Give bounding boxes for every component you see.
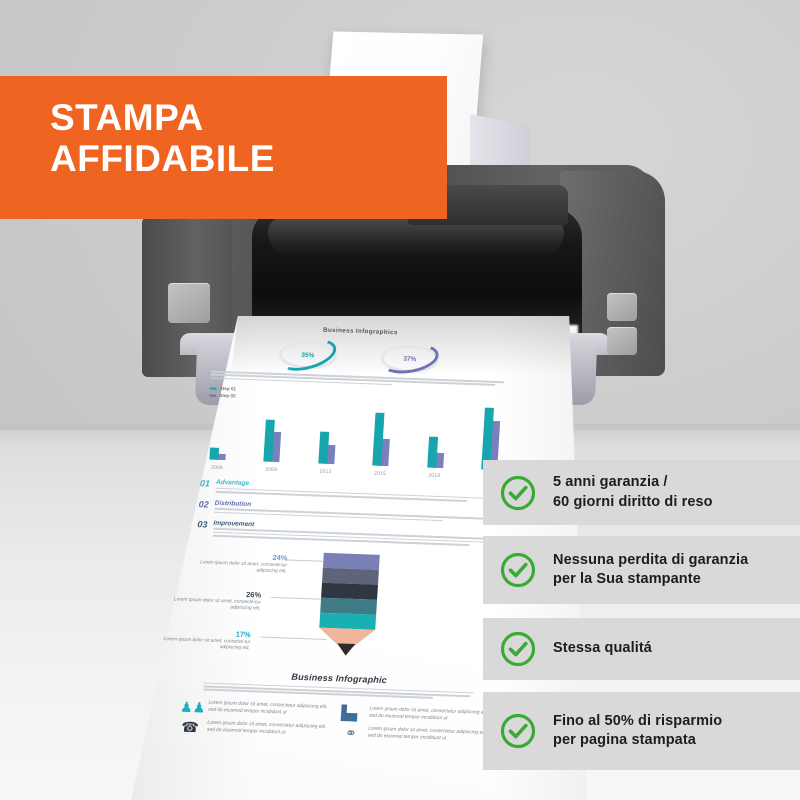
headline-line-1: STAMPA [50,97,275,138]
check-circle-icon [499,474,537,512]
list-item: 03 Improvement [197,519,500,549]
pencil-stat-2: 26% Lorem ipsum dolor sit amet, consecte… [164,587,261,613]
printer-button-right-top[interactable] [607,293,637,321]
list-item: ⚭ Lorem ipsum dolor sit amet, consectetu… [339,725,491,745]
donut-chart-1: 35% [278,340,338,370]
icon-cell-text: Lorem ipsum dolor sit amet, consectetur … [208,701,332,719]
pencil-stat-text: Lorem ipsum dolor sit amet, consecte-tur… [164,597,261,613]
feature-row-1: 5 anni garanzia / 60 giorni diritto di r… [483,460,800,525]
feature-line-1: 5 anni garanzia / [553,473,713,492]
feature-text: Nessuna perdita di garanzia per la Sua s… [553,551,748,589]
chart-bars [197,392,513,471]
x-axis-tick-label: 2009 [251,466,291,473]
feature-line-1: Nessuna perdita di garanzia [553,551,748,570]
lightbulb-idea-icon: ⚭ [339,725,362,740]
bar-group [360,398,404,467]
x-axis-tick-label: 2018 [414,472,454,479]
pencil-stat-1: 24% Lorem ipsum dolor sit amet, consecte… [190,550,287,576]
bar-chart-growth-icon: ▙▖ [341,706,364,721]
headline-banner: STAMPA AFFIDABILE [0,76,447,219]
printer-button-right-bottom[interactable] [607,327,637,355]
clock-phone-icon: ☎ [179,720,202,735]
people-group-icon: ♟♟ [180,700,203,715]
steps-list: 01 Advantage 02 Distribution 03 Impro [197,479,502,549]
headline-line-2: AFFIDABILE [50,138,275,179]
pencil-stat-3: 17% Lorem ipsum dolor sit amet, consecte… [154,626,251,652]
donut-label-2: 37% [380,344,440,374]
list-item: ☎ Lorem ipsum dolor sit amet, consectetu… [179,720,331,740]
icon-cell-text: Lorem ipsum dolor sit amet, consectetur … [369,707,493,725]
step-number: 03 [197,519,208,529]
x-axis-tick-label: 2006 [197,464,237,471]
legend-swatch-icon [210,387,217,390]
check-circle-icon [499,630,537,668]
feature-text: Fino al 50% di risparmio per pagina stam… [553,712,722,750]
bar-group [252,394,296,463]
check-circle-icon [499,712,537,750]
donut-chart-2: 37% [380,344,440,374]
poster-canvas: Business Infographics 35% 37% [0,0,800,800]
bar-step-01 [427,437,438,469]
step-number: 02 [198,499,209,509]
step-number: 01 [200,479,211,489]
pencil-icon [318,552,380,653]
feature-row-3: Stessa qualitá [483,618,800,680]
feature-line-1: Fino al 50% di risparmio [553,712,722,731]
check-circle-icon [499,551,537,589]
feature-line-1: Stessa qualitá [553,639,652,658]
x-axis-tick-label: 2012 [305,468,345,475]
bar-group [415,400,459,469]
feature-text: 5 anni garanzia / 60 giorni diritto di r… [553,473,713,511]
icon-feature-grid: ♟♟ Lorem ipsum dolor sit amet, consectet… [179,700,495,745]
feature-line-2: per la Sua stampante [553,570,748,589]
icon-cell-text: Lorem ipsum dolor sit amet, consectetur … [207,721,331,739]
infographic-content: Business Infographics 35% 37% [167,316,525,797]
headline-text: STAMPA AFFIDABILE [50,97,275,180]
bar-step-01 [209,448,219,461]
feature-line-2: 60 giorni diritto di reso [553,493,713,512]
pencil-diagram: 24% Lorem ipsum dolor sit amet, consecte… [175,543,512,675]
bar-group [197,392,241,461]
pencil-stat-text: Lorem ipsum dolor sit amet, consecte-tur… [190,560,287,576]
bar-chart: Step 01 Step 02 200620092012201520182021 [191,384,518,482]
feature-row-4: Fino al 50% di risparmio per pagina stam… [483,692,800,770]
icon-cell-text: Lorem ipsum dolor sit amet, consectetur … [367,727,491,745]
bar-group [306,396,350,465]
pencil-lead-icon [337,643,356,656]
x-axis-tick-label: 2015 [360,470,400,477]
donut-label-1: 35% [278,340,338,370]
feature-row-2: Nessuna perdita di garanzia per la Sua s… [483,536,800,604]
feature-line-2: per pagina stampata [553,731,722,750]
list-item: ♟♟ Lorem ipsum dolor sit amet, consectet… [180,700,332,720]
list-item: ▙▖ Lorem ipsum dolor sit amet, consectet… [341,706,493,726]
feature-text: Stessa qualitá [553,639,652,658]
